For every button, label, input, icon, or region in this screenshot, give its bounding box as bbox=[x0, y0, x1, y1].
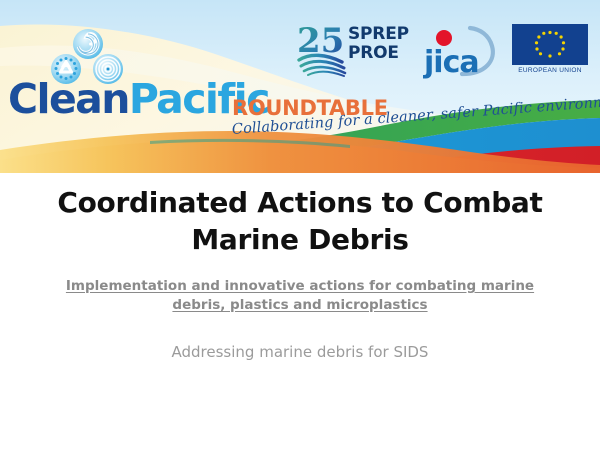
slide-title: Coordinated Actions to Combat Marine Deb… bbox=[40, 184, 560, 258]
jica-logo: jica bbox=[422, 24, 500, 79]
clean-pacific-roundtable-banner: CleanPacific ROUNDTABLE Collaborating fo… bbox=[0, 0, 600, 173]
presentation-slide: CleanPacific ROUNDTABLE Collaborating fo… bbox=[0, 0, 600, 450]
clean-pacific-word-clean: Clean bbox=[8, 75, 129, 123]
sprep-wordmark: SPREP PROE bbox=[348, 25, 409, 63]
slide-tertiary-text: Addressing marine debris for SIDS bbox=[55, 342, 545, 363]
sprep-label: SPREP bbox=[348, 25, 409, 44]
svg-text:jica: jica bbox=[423, 45, 479, 79]
eu-flag-icon bbox=[512, 24, 588, 65]
jica-red-dot bbox=[436, 30, 452, 46]
proe-label: PROE bbox=[348, 44, 409, 63]
clean-pacific-logo: CleanPacific bbox=[8, 28, 248, 123]
slide-subtitle: Implementation and innovative actions fo… bbox=[55, 277, 545, 315]
sprep-25-anniversary-icon: 25 bbox=[296, 22, 348, 78]
european-union-logo: EUROPEAN UNION bbox=[512, 24, 588, 80]
european-union-caption: EUROPEAN UNION bbox=[512, 67, 588, 74]
sprep-logo: 25 SPREP PROE bbox=[296, 22, 408, 78]
clean-pacific-wordmark: CleanPacific bbox=[8, 76, 248, 122]
